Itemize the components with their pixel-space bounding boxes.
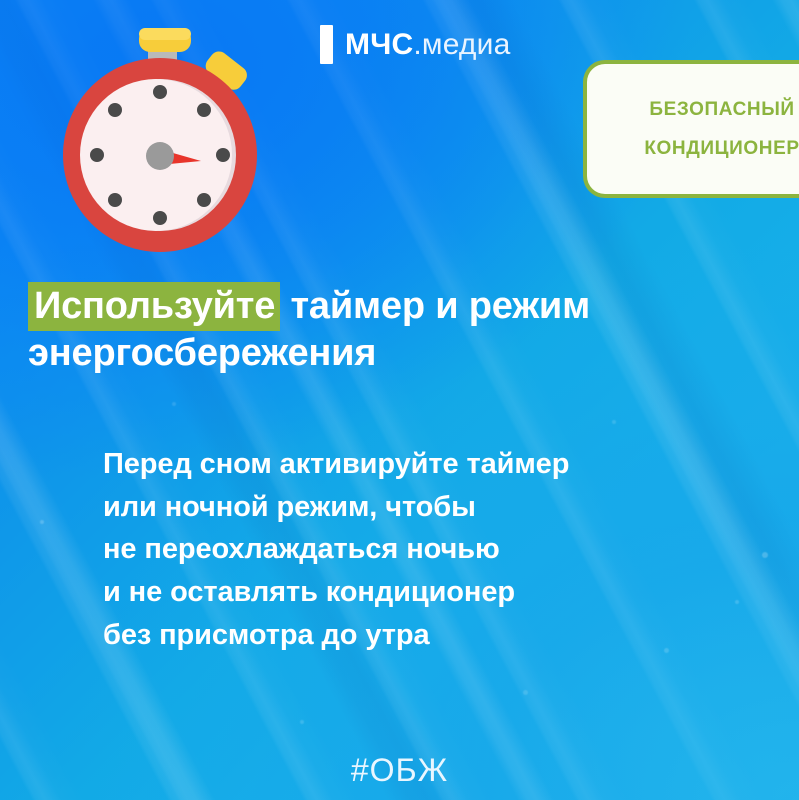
body-line: Перед сном активируйте таймер <box>103 443 763 486</box>
headline-highlight: Используйте <box>28 282 280 331</box>
brand-logo: МЧС.медиа <box>320 25 510 64</box>
brand-name-light: .медиа <box>413 28 510 61</box>
vertical-bar-icon <box>320 25 333 64</box>
body-text: Перед сном активируйте таймер или ночной… <box>103 443 763 656</box>
brand-logo-text: МЧС.медиа <box>345 30 510 60</box>
poster-canvas: МЧС.медиа БЕЗОПАСНЫЙ КОНДИЦИОНЕР <box>0 0 799 800</box>
topic-badge-line-1: БЕЗОПАСНЫЙ <box>649 99 794 121</box>
body-line: и не оставлять кондиционер <box>103 571 763 614</box>
brand-name-strong: МЧС <box>345 28 413 61</box>
body-line: или ночной режим, чтобы <box>103 486 763 529</box>
body-line: не переохлаждаться ночью <box>103 528 763 571</box>
headline: Используйте таймер и режим энергосбереже… <box>28 283 728 377</box>
topic-badge: БЕЗОПАСНЫЙ КОНДИЦИОНЕР <box>583 60 799 198</box>
footer-hashtag: #ОБЖ <box>0 752 799 789</box>
stopwatch-icon <box>55 20 270 255</box>
body-line: без присмотра до утра <box>103 614 763 657</box>
topic-badge-line-2: КОНДИЦИОНЕР <box>644 138 799 160</box>
